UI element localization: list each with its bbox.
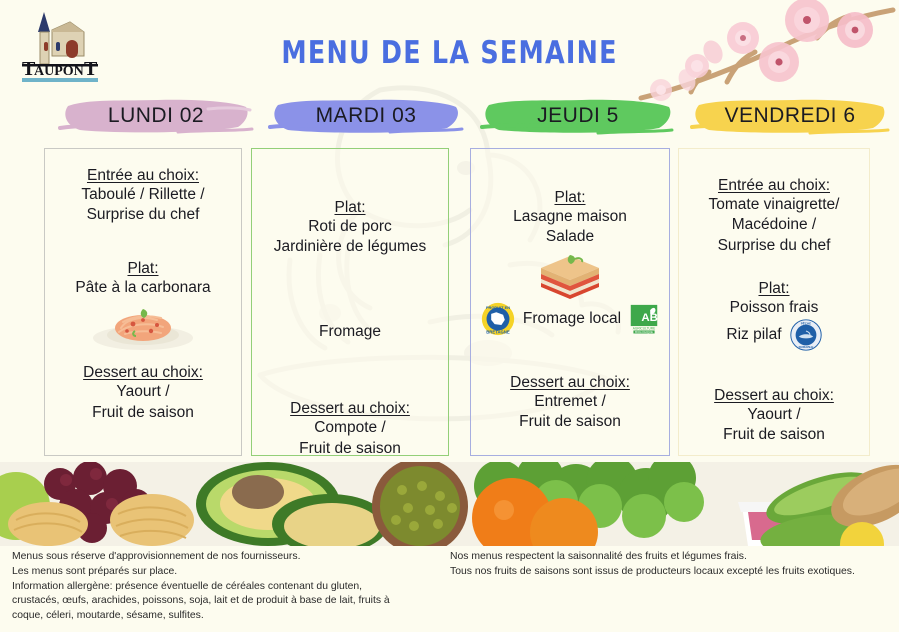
footer-line: coque, céleri, moutarde, sésame, sulfite…	[12, 609, 442, 624]
menu-line: Fruit de saison	[260, 439, 440, 459]
menu-line: Compote /	[260, 418, 440, 438]
peche-durable-icon: PÊCHE DURABLE	[790, 319, 822, 351]
footer-legal-left: Menus sous réserve d'approvisionnement d…	[12, 550, 442, 624]
menu-line: Fruit de saison	[479, 412, 661, 432]
lasagne-icon	[531, 250, 609, 300]
pasta-carbonara-icon	[91, 300, 195, 352]
menu-line: Fromage	[260, 322, 440, 342]
day-label: JEUDI 5	[480, 104, 676, 128]
menu-line: Surprise du chef	[687, 236, 861, 256]
day-header-jeudi[interactable]: JEUDI 5	[480, 96, 676, 136]
section-entree: Entrée au choix: Tomate vinaigrette/ Mac…	[687, 177, 861, 256]
menu-card-jeudi: Plat: Lasagne maison Salade	[470, 148, 670, 456]
menu-line: Riz pilaf	[726, 326, 781, 344]
menu-line: Yaourt /	[687, 405, 861, 425]
svg-text:PÊCHE: PÊCHE	[800, 320, 810, 325]
menu-line: Fruit de saison	[687, 425, 861, 445]
menu-line: Entremet /	[479, 392, 661, 412]
section-dessert: Dessert au choix: Yaourt / Fruit de sais…	[53, 364, 233, 423]
menu-line: Roti de porc	[260, 217, 440, 237]
section-label: Dessert au choix:	[479, 374, 661, 392]
section-plat: Plat: Lasagne maison Salade	[479, 189, 661, 248]
menu-line: Pâte à la carbonara	[53, 278, 233, 298]
section-dessert: Dessert au choix: Entremet / Fruit de sa…	[479, 374, 661, 433]
footer-legal-right: Nos menus respectent la saisonnalité des…	[450, 550, 890, 580]
produit-en-bretagne-icon: PRODUIT EN BRETAGNE	[481, 302, 515, 336]
fromage-local-row: PRODUIT EN BRETAGNE Fromage local AB AGR…	[479, 302, 661, 336]
footer-line: Tous nos fruits de saisons sont issus de…	[450, 565, 890, 580]
menu-poster: T AUPON T MENU DE LA SEMAINE LUNDI 02	[0, 0, 899, 632]
agriculture-biologique-ab-icon: AB AGRICULTURE BIOLOGIQUE	[629, 303, 659, 335]
footer: Menus sous réserve d'approvisionnement d…	[0, 546, 899, 632]
menu-card-lundi: Entrée au choix: Taboulé / Rillette / Su…	[44, 148, 242, 456]
section-dessert: Dessert au choix: Yaourt / Fruit de sais…	[687, 387, 861, 446]
section-label: Plat:	[687, 280, 861, 298]
riz-pilaf-row: Riz pilaf PÊCHE DURABLE	[687, 319, 861, 351]
menu-line: Jardinière de légumes	[260, 237, 440, 257]
menu-line: Fruit de saison	[53, 403, 233, 423]
section-fromage: Fromage	[260, 322, 440, 342]
menu-line: Surprise du chef	[53, 205, 233, 225]
food-photo-band	[0, 462, 899, 546]
footer-line: Menus sous réserve d'approvisionnement d…	[12, 550, 442, 565]
section-plat: Plat: Poisson frais Riz pilaf PÊCHE DURA…	[687, 280, 861, 350]
section-label: Entrée au choix:	[687, 177, 861, 195]
day-headers: LUNDI 02 MARDI 03 JEUDI 5	[40, 96, 868, 140]
section-dessert: Dessert au choix: Compote / Fruit de sai…	[260, 400, 440, 459]
footer-line: Nos menus respectent la saisonnalité des…	[450, 550, 890, 565]
day-header-lundi[interactable]: LUNDI 02	[58, 96, 254, 136]
section-label: Dessert au choix:	[687, 387, 861, 405]
svg-text:PRODUIT EN: PRODUIT EN	[486, 305, 510, 310]
page-title: MENU DE LA SEMAINE	[81, 35, 818, 71]
menu-cards: Entrée au choix: Taboulé / Rillette / Su…	[0, 148, 899, 460]
section-label: Plat:	[260, 199, 440, 217]
menu-line: Macédoine /	[687, 215, 861, 235]
section-label: Plat:	[479, 189, 661, 207]
footer-line: crustacés, œufs, arachides, poissons, so…	[12, 594, 442, 609]
svg-text:BRETAGNE: BRETAGNE	[486, 329, 510, 334]
section-label: Dessert au choix:	[53, 364, 233, 382]
menu-line: Salade	[479, 227, 661, 247]
menu-line: Poisson frais	[687, 298, 861, 318]
footer-line: Les menus sont préparés sur place.	[12, 565, 442, 580]
section-label: Dessert au choix:	[260, 400, 440, 418]
menu-line: Lasagne maison	[479, 207, 661, 227]
section-label: Entrée au choix:	[53, 167, 233, 185]
svg-text:BIOLOGIQUE: BIOLOGIQUE	[635, 330, 653, 334]
menu-line: Fromage local	[523, 310, 621, 328]
section-label: Plat:	[53, 260, 233, 278]
section-entree: Entrée au choix: Taboulé / Rillette / Su…	[53, 167, 233, 226]
section-plat: Plat: Pâte à la carbonara	[53, 260, 233, 298]
section-plat: Plat: Roti de porc Jardinière de légumes	[260, 199, 440, 258]
day-label: MARDI 03	[268, 104, 464, 128]
menu-line: Yaourt /	[53, 382, 233, 402]
day-header-vendredi[interactable]: VENDREDI 6	[690, 96, 890, 136]
menu-line: Tomate vinaigrette/	[687, 195, 861, 215]
day-label: VENDREDI 6	[690, 104, 890, 128]
svg-text:DURABLE: DURABLE	[798, 345, 813, 349]
day-label: LUNDI 02	[58, 104, 254, 128]
day-header-mardi[interactable]: MARDI 03	[268, 96, 464, 136]
svg-text:AB: AB	[641, 312, 658, 324]
menu-card-mardi: Plat: Roti de porc Jardinière de légumes…	[251, 148, 449, 456]
footer-line: Information allergène: présence éventuel…	[12, 580, 442, 595]
menu-line: Taboulé / Rillette /	[53, 185, 233, 205]
menu-card-vendredi: Entrée au choix: Tomate vinaigrette/ Mac…	[678, 148, 870, 456]
